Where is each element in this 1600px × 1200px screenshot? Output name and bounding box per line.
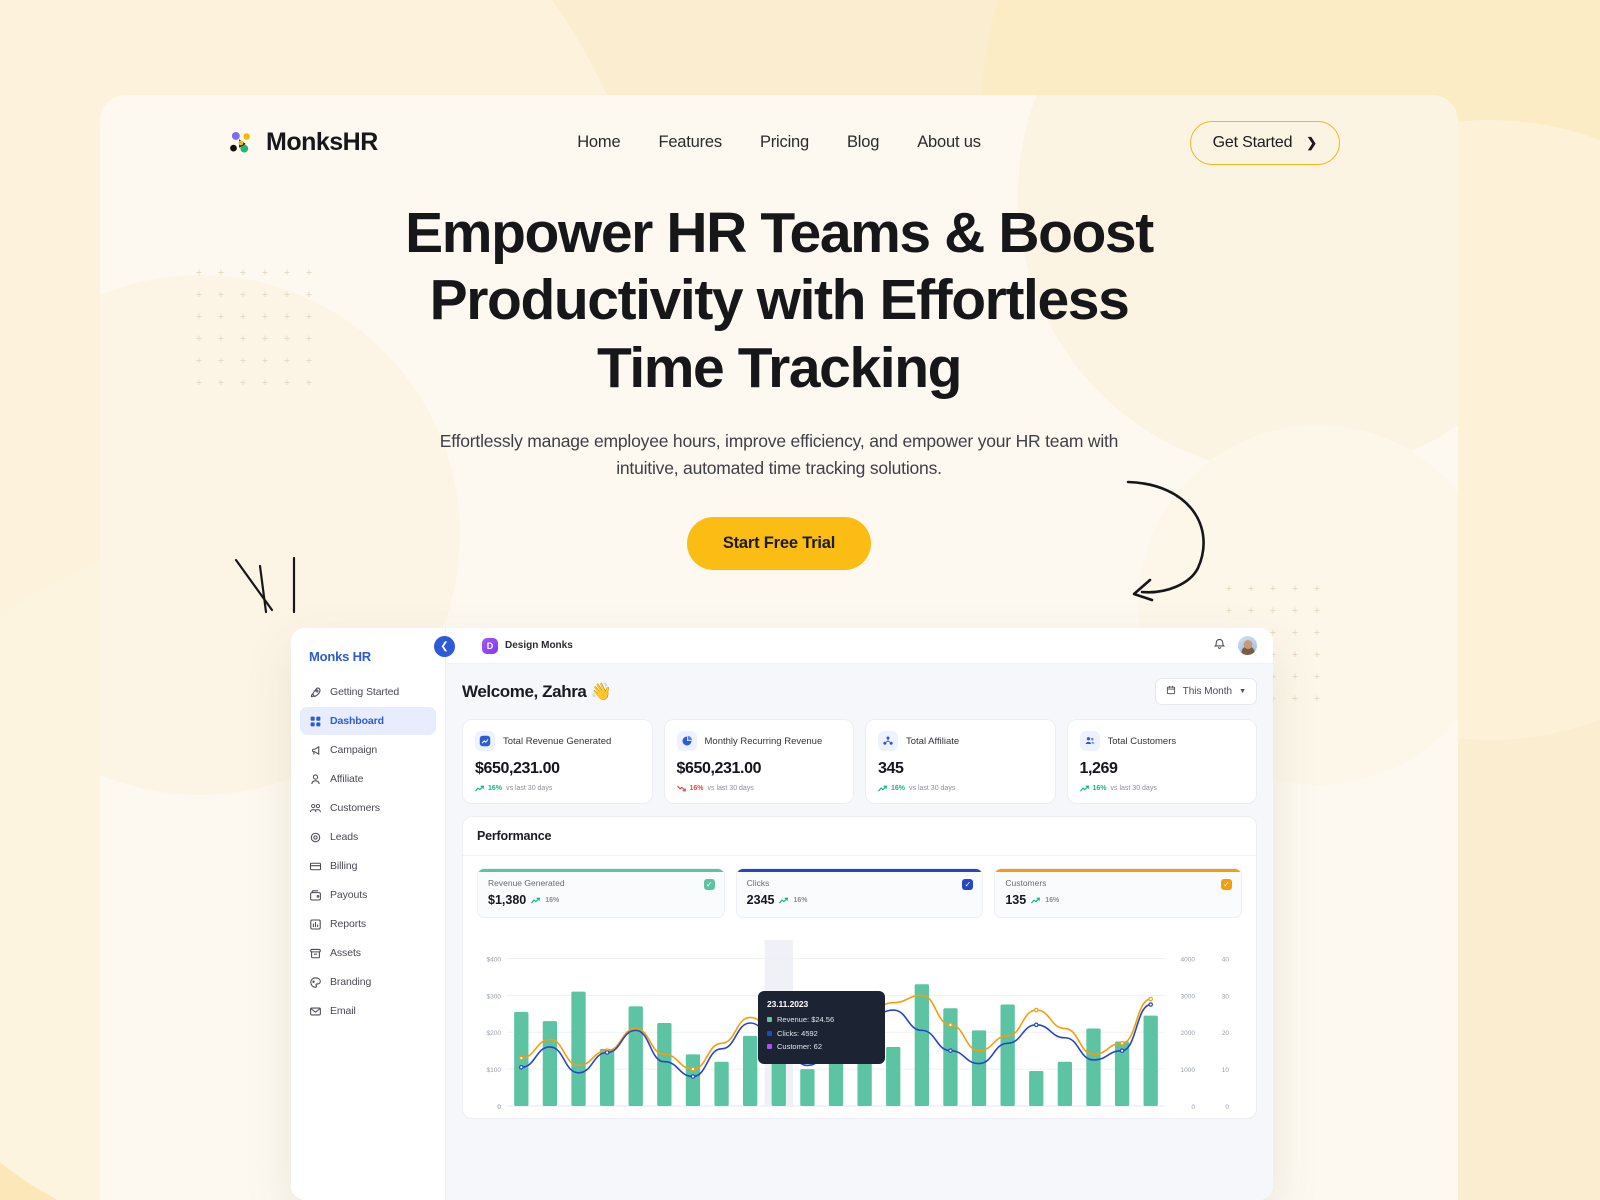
sidebar-item-label: Dashboard [330,715,384,727]
workspace-logo-icon: D [482,638,498,654]
page-title: Empower HR Teams & Boost Productivity wi… [379,200,1179,402]
trend-up-icon [1031,897,1040,904]
svg-text:$300: $300 [487,993,502,1000]
svg-text:$400: $400 [487,956,502,963]
customers-icon [1080,731,1100,751]
svg-text:20: 20 [1222,1030,1230,1037]
workspace-switcher[interactable]: D Design Monks [482,638,573,654]
sidebar-item-label: Affiliate [330,773,363,785]
stat-header: Total Customers [1080,731,1245,751]
tooltip-customer-label: Customer: 62 [777,1042,822,1051]
date-filter-dropdown[interactable]: This Month ▼ [1155,678,1257,705]
svg-text:0: 0 [497,1104,501,1111]
chart-tooltip: 23.11.2023 Revenue: $24.56 Clicks: 4592 [758,991,885,1064]
stat-label: Total Customers [1108,736,1177,747]
chevron-down-icon: ▼ [1239,688,1246,695]
trend-down-icon [677,785,686,792]
stat-card-total-affiliate: Total Affiliate 345 16% vs last 30 days [865,719,1056,804]
rocket-icon [309,686,322,699]
dashboard-brand: Monks HR [300,640,436,678]
sidebar-item-payouts[interactable]: Payouts [300,881,436,909]
performance-header: Performance [463,817,1256,856]
card-icon [309,860,322,873]
tooltip-clicks-label: Clicks: 4592 [777,1029,818,1038]
legend-dot-clicks-icon [767,1031,772,1036]
hero-subtitle: Effortlessly manage employee hours, impr… [439,428,1119,483]
metric-label: Clicks [747,878,973,888]
start-free-trial-button[interactable]: Start Free Trial [687,517,871,570]
stat-cards: Total Revenue Generated $650,231.00 16% … [462,719,1257,804]
metric-label: Customers [1005,878,1231,888]
performance-chart: $400$300$200$100040003000200010000403020… [463,928,1256,1118]
sidebar-item-email[interactable]: Email [300,997,436,1025]
stat-value: $650,231.00 [475,760,640,778]
stat-value: 1,269 [1080,760,1245,778]
sidebar-item-label: Branding [330,976,371,988]
hero-section: Empower HR Teams & Boost Productivity wi… [100,200,1458,570]
svg-text:40: 40 [1222,956,1230,963]
dashboard-grid-icon [309,715,322,728]
metric-value: 2345 [747,893,775,907]
sidebar-item-reports[interactable]: Reports [300,910,436,938]
sidebar-item-label: Getting Started [330,686,399,698]
sidebar-item-customers[interactable]: Customers [300,794,436,822]
stat-delta-pct: 16% [1093,785,1107,792]
stat-header: Total Affiliate [878,731,1043,751]
palette-icon [309,976,322,989]
arrow-lines-left-icon [232,556,312,636]
affiliate-icon [878,731,898,751]
legend-dot-revenue-icon [767,1017,772,1022]
sidebar-item-label: Billing [330,860,357,872]
sidebar-item-label: Campaign [330,744,377,756]
stat-delta-pct: 16% [891,785,905,792]
stat-value: 345 [878,760,1043,778]
performance-title: Performance [477,829,1242,843]
svg-text:3000: 3000 [1181,993,1196,1000]
sidebar-item-label: Email [330,1005,356,1017]
stat-delta-pct: 16% [690,785,704,792]
nav-item-about-us[interactable]: About us [917,133,981,152]
stat-delta: 16% vs last 30 days [475,785,640,792]
stat-delta-note: vs last 30 days [909,785,955,792]
trend-up-icon [1080,785,1089,792]
svg-text:10: 10 [1222,1067,1230,1074]
pie-chart-icon [677,731,697,751]
dashboard-sidebar: Monks HR Getting Started Dashboard Campa… [291,628,446,1200]
chart-bar-icon [309,918,322,931]
calendar-icon [1166,685,1176,698]
archive-icon [309,947,322,960]
sidebar-collapse-button[interactable]: ❮ [434,636,455,657]
metric-value-row: 135 16% [1005,893,1231,907]
workspace-name: Design Monks [505,640,573,651]
sidebar-item-affiliate[interactable]: Affiliate [300,765,436,793]
svg-text:0: 0 [1225,1104,1229,1111]
performance-panel: Performance ✓ Revenue Generated $1,380 1… [462,816,1257,1119]
tooltip-row-clicks: Clicks: 4592 [767,1029,876,1038]
metric-checkbox[interactable]: ✓ [1221,879,1232,890]
stat-delta: 16% vs last 30 days [677,785,842,792]
metric-toggle-customers[interactable]: ✓ Customers 135 16% [994,868,1242,918]
trend-up-icon [531,897,540,904]
svg-text:$100: $100 [487,1067,502,1074]
stat-label: Total Affiliate [906,736,959,747]
sidebar-item-getting-started[interactable]: Getting Started [300,678,436,706]
tooltip-date: 23.11.2023 [767,999,876,1009]
metric-change: 16% [793,897,807,904]
metric-accent-bar [478,869,724,872]
stat-delta-pct: 16% [488,785,502,792]
legend-dot-customer-icon [767,1044,772,1049]
users-group-icon [309,802,322,815]
sidebar-item-label: Assets [330,947,361,959]
sidebar-item-dashboard[interactable]: Dashboard [300,707,436,735]
svg-text:4000: 4000 [1181,956,1196,963]
topbar-actions [1213,636,1257,655]
sidebar-item-label: Reports [330,918,366,930]
trend-up-icon [779,897,788,904]
svg-text:1000: 1000 [1181,1067,1196,1074]
megaphone-icon [309,744,322,757]
wallet-icon [309,889,322,902]
welcome-heading: Welcome, Zahra 👋 [462,682,612,702]
tooltip-revenue-label: Revenue: $24.56 [777,1015,834,1024]
get-started-label: Get Started [1213,134,1293,152]
metric-accent-bar [737,869,983,872]
sidebar-item-leads[interactable]: Leads [300,823,436,851]
tooltip-row-customer: Customer: 62 [767,1042,876,1051]
curved-arrow-right-icon [1120,470,1240,610]
trend-up-icon [878,785,887,792]
chevron-right-icon: ❯ [1306,135,1317,151]
trend-square-icon [475,731,495,751]
performance-metric-toggles: ✓ Revenue Generated $1,380 16% ✓ Clic [463,856,1256,928]
bell-icon[interactable] [1213,637,1226,655]
avatar[interactable] [1238,636,1257,655]
stat-delta-note: vs last 30 days [506,785,552,792]
metric-value: $1,380 [488,893,526,907]
metric-change: 16% [545,897,559,904]
tooltip-row-revenue: Revenue: $24.56 [767,1015,876,1024]
metric-change: 16% [1045,897,1059,904]
site-header: MonksHR Home Features Pricing Blog About… [100,95,1458,190]
sidebar-item-label: Payouts [330,889,367,901]
stat-delta: 16% vs last 30 days [878,785,1043,792]
nav-item-blog[interactable]: Blog [847,133,879,152]
nav-item-features[interactable]: Features [658,133,722,152]
stat-label: Monthly Recurring Revenue [705,736,823,747]
welcome-row: Welcome, Zahra 👋 This Month ▼ [462,678,1257,705]
stat-delta: 16% vs last 30 days [1080,785,1245,792]
metric-toggle-clicks[interactable]: ✓ Clicks 2345 16% [736,868,984,918]
metric-accent-bar [995,869,1241,872]
metric-value-row: 2345 16% [747,893,973,907]
dashboard-topbar: ❮ D Design Monks [446,628,1273,664]
trend-up-icon [475,785,484,792]
metric-label: Revenue Generated [488,878,714,888]
metric-checkbox[interactable]: ✓ [704,879,715,890]
svg-text:$200: $200 [487,1030,502,1037]
sidebar-item-campaign[interactable]: Campaign [300,736,436,764]
target-icon [309,831,322,844]
nav-item-home[interactable]: Home [577,133,620,152]
mail-icon [309,1005,322,1018]
sidebar-item-label: Customers [330,802,380,814]
stat-card-total-revenue: Total Revenue Generated $650,231.00 16% … [462,719,653,804]
svg-text:30: 30 [1222,993,1230,1000]
stat-card-total-customers: Total Customers 1,269 16% vs last 30 day… [1067,719,1258,804]
svg-text:0: 0 [1191,1104,1195,1111]
dashboard-content: Welcome, Zahra 👋 This Month ▼ [446,664,1273,1200]
dashboard-mockup: Monks HR Getting Started Dashboard Campa… [291,628,1273,1200]
page-root: ++++++ ++++++ ++++++ ++++++ ++++++ +++++… [0,0,1600,1200]
get-started-button[interactable]: Get Started ❯ [1190,121,1340,165]
stat-card-monthly-recurring-revenue: Monthly Recurring Revenue $650,231.00 16… [664,719,855,804]
svg-text:2000: 2000 [1181,1030,1196,1037]
stat-header: Total Revenue Generated [475,731,640,751]
dashboard-main: ❮ D Design Monks Welcome, Zahra 👋 [446,628,1273,1200]
stat-label: Total Revenue Generated [503,736,611,747]
stat-header: Monthly Recurring Revenue [677,731,842,751]
sidebar-item-billing[interactable]: Billing [300,852,436,880]
stat-value: $650,231.00 [677,760,842,778]
stat-delta-note: vs last 30 days [1111,785,1157,792]
user-icon [309,773,322,786]
stat-delta-note: vs last 30 days [708,785,754,792]
metric-checkbox[interactable]: ✓ [962,879,973,890]
chevron-left-icon: ❮ [440,641,448,652]
sidebar-item-branding[interactable]: Branding [300,968,436,996]
metric-value-row: $1,380 16% [488,893,714,907]
metric-toggle-revenue-generated[interactable]: ✓ Revenue Generated $1,380 16% [477,868,725,918]
nav-item-pricing[interactable]: Pricing [760,133,809,152]
sidebar-item-assets[interactable]: Assets [300,939,436,967]
metric-value: 135 [1005,893,1026,907]
date-filter-label: This Month [1183,686,1232,697]
sidebar-item-label: Leads [330,831,358,843]
